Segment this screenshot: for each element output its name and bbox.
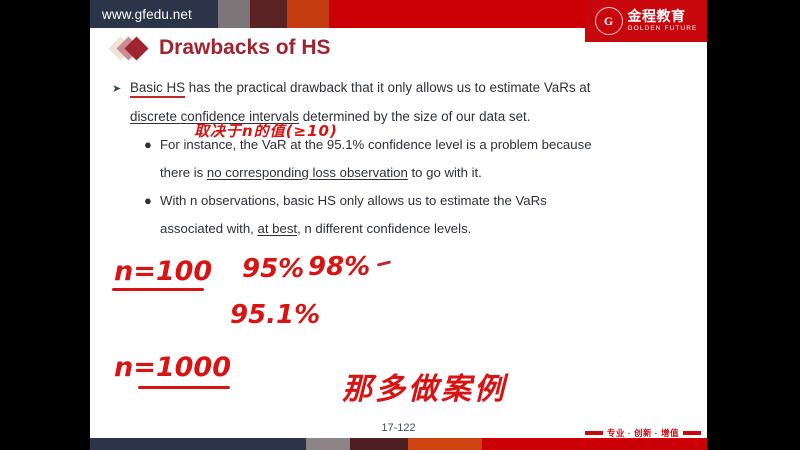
handwriting-conf-95: 95% [242, 254, 304, 284]
slogan-bar-right-icon [683, 431, 701, 435]
slogan-bar-left-icon [585, 431, 603, 435]
bullet-text: With n observations, basic HS only allow… [160, 187, 547, 215]
text-run: associated with, [160, 221, 258, 236]
brand-emblem-letter: G [604, 14, 613, 29]
bullet-line: ➤Basic HS has the practical drawback tha… [112, 74, 687, 103]
handwriting-note-bottom: 那多做案例 [342, 364, 507, 408]
handwriting-n-100: n=100 [114, 256, 212, 287]
text-run: no corresponding loss observation [207, 165, 408, 180]
text-run: With n observations, basic HS only allow… [160, 193, 547, 208]
bottom-bar-red-segment [482, 438, 707, 450]
text-run: at best [258, 221, 298, 236]
handwriting-dash-mark [377, 260, 391, 266]
footer-slogan: 专业 · 创新 · 增值 [585, 427, 701, 439]
bullet-text: associated with, at best, n different co… [160, 215, 471, 243]
bullet-text: Basic HS has the practical drawback that… [130, 74, 687, 103]
handwriting-underline-n-100 [112, 288, 204, 291]
slogan-text: 专业 · 创新 · 增值 [603, 427, 683, 439]
text-run: there is [160, 165, 207, 180]
video-stage: www.gfedu.net G 金程教育 GOLDEN FUTURE Drawb… [0, 0, 800, 450]
handwriting-conf-98: 98% [308, 252, 370, 282]
brand-logo: G 金程教育 GOLDEN FUTURE [585, 0, 707, 42]
brand-emblem-icon: G [595, 7, 623, 35]
website-url-label: www.gfedu.net [90, 7, 192, 22]
text-run: , n different confidence levels. [297, 221, 471, 236]
bullet-line: there is no corresponding loss observati… [144, 159, 687, 187]
slide-bottom-bar [90, 438, 707, 450]
bullet-line: associated with, at best, n different co… [144, 215, 687, 243]
text-run: to go with it. [408, 165, 482, 180]
top-bar-orange-segment [287, 0, 329, 28]
dot-bullet-icon: ● [144, 187, 160, 215]
top-bar-maroon-segment [250, 0, 287, 28]
handwriting-note-top: 取决于n的值(≥10) [194, 120, 338, 141]
bottom-bar-gray-segment [306, 438, 350, 450]
handwriting-underline-n-1000 [138, 386, 230, 389]
slide-title-row: Drawbacks of HS [112, 36, 331, 60]
arrow-bullet-icon: ➤ [112, 74, 130, 103]
brand-name-en: GOLDEN FUTURE [628, 26, 698, 33]
slide-body: ➤Basic HS has the practical drawback tha… [112, 74, 687, 243]
handwriting-n-1000: n=1000 [114, 352, 231, 383]
dot-bullet-icon [144, 215, 160, 243]
brand-logo-text: 金程教育 GOLDEN FUTURE [628, 9, 698, 33]
slide-title: Drawbacks of HS [159, 36, 331, 60]
bullet-text: there is no corresponding loss observati… [160, 159, 482, 187]
bottom-bar-orange-segment [408, 438, 482, 450]
bullet-line: ●With n observations, basic HS only allo… [144, 187, 687, 215]
website-url-band: www.gfedu.net [90, 0, 218, 28]
bottom-bar-navy-segment [90, 438, 306, 450]
dot-bullet-icon [144, 159, 160, 187]
top-bar-gray-segment [218, 0, 250, 28]
presentation-slide: www.gfedu.net G 金程教育 GOLDEN FUTURE Drawb… [90, 0, 707, 450]
text-run: Basic HS [130, 80, 185, 98]
arrow-bullet-icon [112, 103, 130, 131]
brand-name-cn: 金程教育 [628, 9, 698, 23]
dot-bullet-icon: ● [144, 131, 160, 159]
bottom-bar-maroon-segment [350, 438, 408, 450]
text-run: has the practical drawback that it only … [185, 80, 590, 95]
handwriting-conf-95-1: 95.1% [230, 300, 320, 330]
